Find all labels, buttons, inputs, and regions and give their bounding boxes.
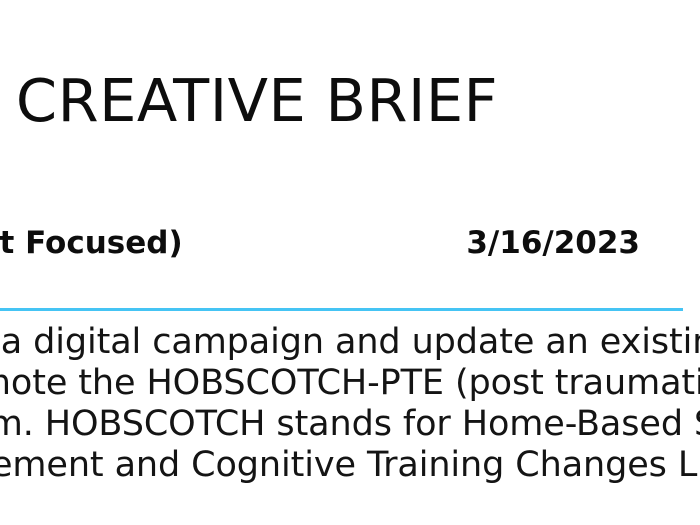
section-divider <box>0 308 683 311</box>
body-line: Management and Cognitive Training Change… <box>0 445 686 486</box>
body-line: to promote the HOBSCOTCH-PTE (post traum… <box>0 363 686 404</box>
document-page: CREATIVE BRIEF (Patient Focused) 3/16/20… <box>0 0 686 525</box>
document-meta-row: (Patient Focused) 3/16/2023 <box>0 224 640 268</box>
brief-date: 3/16/2023 <box>466 224 640 263</box>
document-viewport[interactable]: CREATIVE BRIEF (Patient Focused) 3/16/20… <box>0 0 700 525</box>
audience-label: (Patient Focused) <box>0 224 183 263</box>
body-line: Create a digital campaign and update an … <box>0 322 686 363</box>
body-line: program. HOBSCOTCH stands for Home-Based… <box>0 404 686 445</box>
body-paragraph: Create a digital campaign and update an … <box>0 322 686 486</box>
page-title: CREATIVE BRIEF <box>0 70 640 132</box>
